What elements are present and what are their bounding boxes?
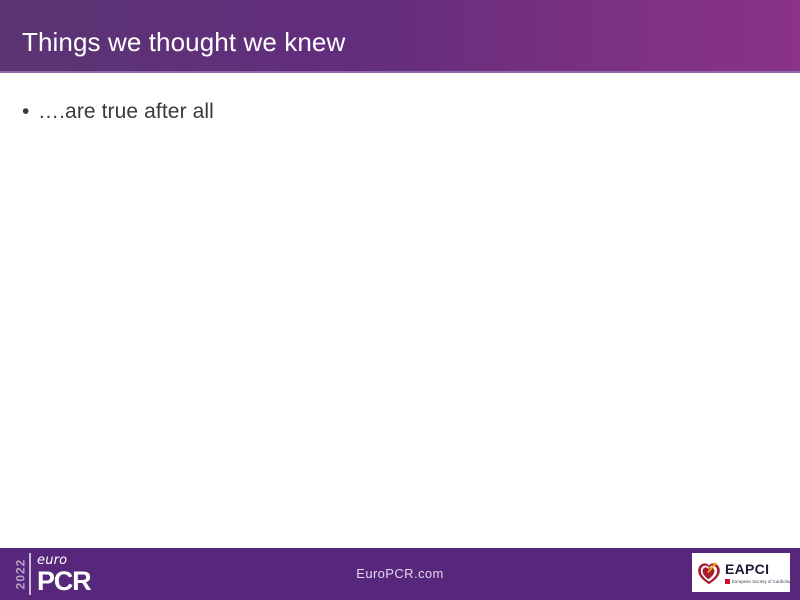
eapci-badge-text: EAPCI European Society of Cardiology <box>725 562 794 584</box>
eapci-badge: EAPCI European Society of Cardiology <box>692 553 790 592</box>
slide-content: • ….are true after all <box>0 73 800 548</box>
eapci-acronym: EAPCI <box>725 562 794 577</box>
page-title: Things we thought we knew <box>22 26 345 58</box>
heart-shield-icon <box>696 560 722 586</box>
bullet-dot-icon: • <box>22 97 38 127</box>
bullet-text: ….are true after all <box>38 97 214 127</box>
eapci-society-label: European Society of Cardiology <box>732 579 794 584</box>
eapci-society-line: European Society of Cardiology <box>725 579 794 584</box>
footer-website-url[interactable]: EuroPCR.com <box>0 566 800 582</box>
slide: Things we thought we knew • ….are true a… <box>0 0 800 600</box>
bullet-list: • ….are true after all <box>22 97 762 137</box>
list-item: • ….are true after all <box>22 97 762 127</box>
red-square-icon <box>725 579 730 584</box>
